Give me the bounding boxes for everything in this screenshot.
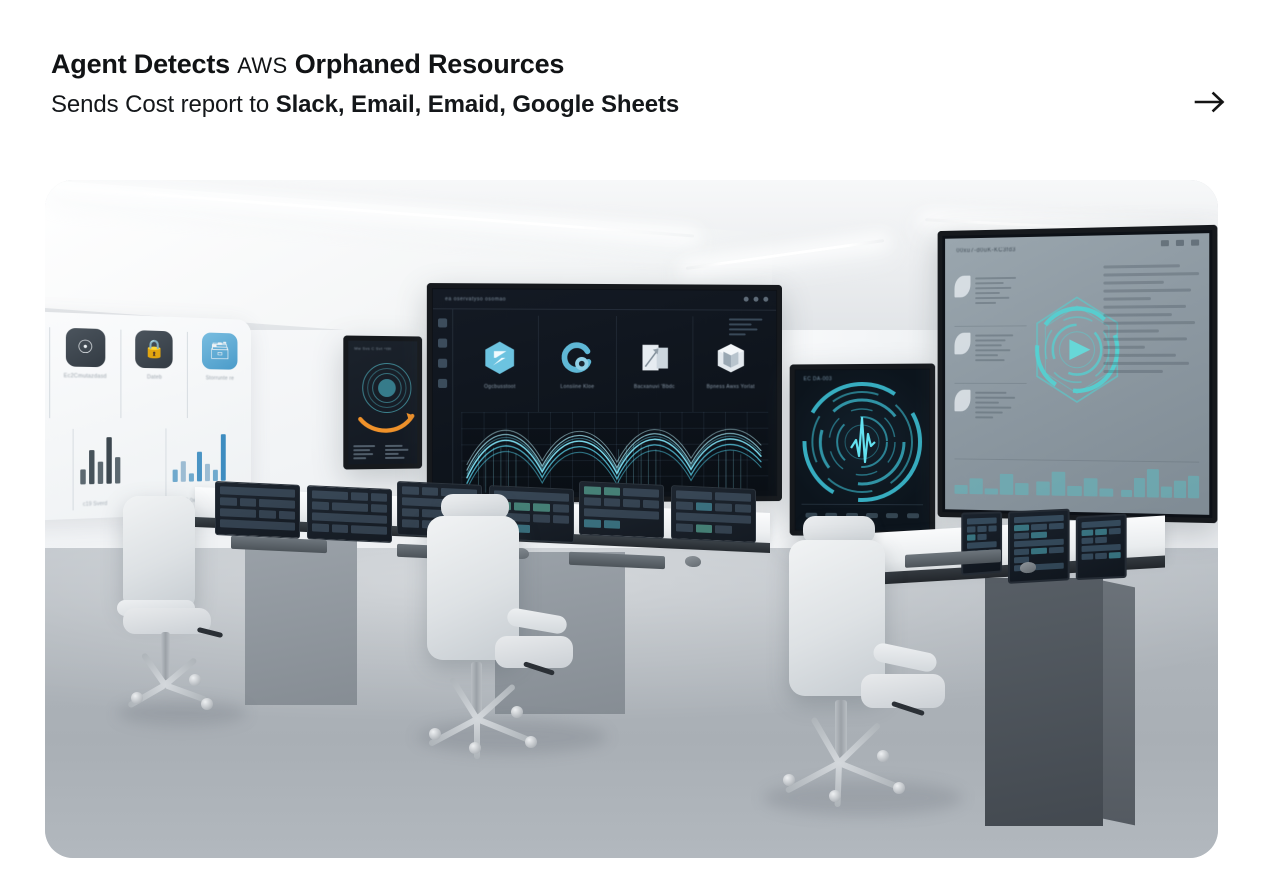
chair-base	[129, 676, 229, 706]
dashboard-metric-row	[954, 269, 1026, 327]
main-display-topbar: ea oservatyso osomao	[433, 289, 776, 311]
operator-chair	[405, 480, 625, 760]
chair-caster	[131, 692, 143, 704]
whiteboard-chart-caption: c19 Sverd	[83, 501, 107, 508]
hud-rings-icon	[348, 341, 417, 342]
minimize-dot-icon[interactable]	[744, 297, 749, 302]
dashboard-left-column	[954, 269, 1026, 442]
dashboard-right-column	[1103, 264, 1199, 373]
service-card[interactable]: Bacxanuvi 'Bbdc	[616, 316, 693, 412]
title-aws: AWS	[237, 53, 287, 78]
chair-backrest	[789, 540, 885, 696]
whiteboard-icon-row: ☁ Cloudwatch ☉ Ec2Cmutazdasd 🔒 Dateb 🗃 S…	[45, 325, 251, 418]
subtitle-lead: Sends Cost report to	[51, 91, 276, 118]
aws-service-tile-icon	[481, 338, 519, 376]
mini-bar-chart	[954, 464, 1028, 495]
chair-caster	[893, 782, 905, 794]
chair-caster	[525, 736, 537, 748]
chair-base	[425, 708, 565, 748]
sidebar-icon[interactable]	[438, 359, 447, 368]
service-card-label: Ogcbusstoot	[484, 383, 516, 389]
desk-pedestal	[245, 540, 357, 705]
whiteboard-icon-cell: 🗃 Storrunte re	[188, 332, 251, 418]
chair-caster	[877, 750, 889, 762]
title-part-2: Orphaned Resources	[287, 49, 564, 79]
title-part-1: Agent Detects	[51, 49, 237, 79]
dashboard-bottom-charts	[954, 458, 1199, 506]
dashboard-status-chips	[1161, 239, 1199, 246]
aws-monitor-screen: Mw Svs C Svt ^t9t	[348, 341, 417, 465]
whiteboard-icon-label: Dateb	[147, 374, 162, 380]
aws-cube-icon	[712, 339, 749, 377]
chair-seat	[861, 674, 945, 708]
circle-swirl-icon: ☉	[65, 328, 104, 367]
header-text-block: Agent Detects AWS Orphaned Resources Sen…	[51, 47, 679, 120]
cost-dashboard-screen: 00xu7-d0uK-KC3fd3	[945, 233, 1209, 515]
bar-chart-graphic	[172, 434, 245, 482]
chair-post	[161, 632, 170, 680]
mini-bar-chart	[1121, 467, 1199, 499]
chair-caster	[511, 706, 523, 718]
maximize-dot-icon[interactable]	[754, 297, 759, 302]
chair-lever[interactable]	[197, 627, 223, 638]
amazon-swoosh-icon	[357, 411, 416, 437]
page-title: Agent Detects AWS Orphaned Resources	[51, 47, 679, 82]
console-panel[interactable]	[307, 485, 392, 543]
right-monitor-content	[1080, 518, 1123, 576]
cost-dashboard-display[interactable]: 00xu7-d0uK-KC3fd3	[938, 225, 1218, 523]
main-wall-display[interactable]: ea oservatyso osomao	[427, 283, 782, 503]
right-station-monitor[interactable]	[1076, 513, 1127, 580]
chair-caster	[429, 728, 441, 740]
main-display-sidebar[interactable]	[433, 309, 453, 497]
service-card-label: Bpness Awxs Yorlat	[707, 384, 755, 390]
service-card[interactable]: Lonsiine Kloe	[539, 316, 616, 412]
right-desk-pedestal	[985, 578, 1103, 826]
bar-chart-graphic	[81, 435, 159, 485]
operator-chair	[745, 500, 985, 820]
right-desk-pedestal-side	[1103, 581, 1135, 826]
service-card-row: Ogcbusstoot Lonsiine Kloe	[461, 315, 768, 412]
operator-chair	[105, 480, 245, 730]
mouse[interactable]	[685, 556, 701, 568]
leaf-icon	[954, 333, 970, 355]
text-lines-graphic	[45, 435, 66, 466]
service-card-label: Lonsiine Kloe	[560, 383, 594, 389]
dashboard-metric-row	[954, 326, 1026, 384]
aws-document-icon	[636, 339, 674, 377]
chair-base	[781, 752, 941, 796]
service-card-label: Bacxanuvi 'Bbdc	[634, 384, 675, 390]
scene-image: ☁ Cloudwatch ☉ Ec2Cmutazdasd 🔒 Dateb 🗃 S…	[45, 180, 1218, 858]
chair-backrest	[123, 496, 195, 612]
right-station-monitor[interactable]	[1008, 509, 1070, 584]
whiteboard-chart: 192-935	[45, 429, 74, 514]
chair-seat	[495, 636, 573, 668]
sidebar-icon[interactable]	[438, 339, 447, 348]
dashboard-metric-row	[954, 384, 1026, 442]
whiteboard-icon-label: Ec2Cmutazdasd	[64, 373, 107, 380]
lock-icon: 🔒	[136, 330, 173, 368]
chair-caster	[469, 742, 481, 754]
chair-caster	[201, 698, 213, 710]
aws-monitor-data-rows	[353, 445, 412, 460]
window-controls[interactable]	[744, 297, 769, 302]
sidebar-icon[interactable]	[438, 318, 447, 327]
close-dot-icon[interactable]	[763, 297, 768, 302]
main-display-meta	[729, 318, 766, 338]
mini-bar-chart	[1037, 465, 1113, 496]
chair-post	[835, 700, 847, 758]
service-card[interactable]: Ogcbusstoot	[461, 315, 539, 412]
subtitle-targets: Slack, Email, Emaid, Google Sheets	[276, 91, 679, 118]
database-icon: 🗃	[202, 332, 237, 369]
leaf-icon	[954, 390, 970, 412]
chair-caster	[783, 774, 795, 786]
next-button[interactable]	[1188, 80, 1232, 124]
whiteboard-icon-cell: ☉ Ec2Cmutazdasd	[50, 327, 121, 418]
page-root: Agent Detects AWS Orphaned Resources Sen…	[0, 0, 1280, 896]
leaf-icon	[954, 276, 970, 298]
chair-caster	[189, 674, 201, 686]
arrow-right-icon	[1194, 90, 1226, 114]
aws-wall-monitor[interactable]: Mw Svs C Svt ^t9t	[343, 335, 422, 469]
cost-dashboard-title: 00xu7-d0uK-KC3fd3	[956, 247, 1016, 254]
chair-caster	[829, 790, 841, 802]
main-display-screen: ea oservatyso osomao	[433, 289, 776, 497]
main-display-title: ea oservatyso osomao	[445, 296, 506, 302]
page-header: Agent Detects AWS Orphaned Resources Sen…	[0, 0, 1280, 168]
sidebar-icon[interactable]	[438, 379, 447, 388]
whiteboard-icon-cell: 🔒 Dateb	[121, 330, 188, 418]
page-subtitle: Sends Cost report to Slack, Email, Emaid…	[51, 89, 679, 120]
console-panel[interactable]	[671, 485, 756, 543]
aws-refresh-icon	[558, 338, 596, 376]
aws-monitor-title: Mw Svs C Svt ^t9t	[354, 346, 391, 351]
whiteboard-icon-label: Storrunte re	[206, 375, 234, 382]
